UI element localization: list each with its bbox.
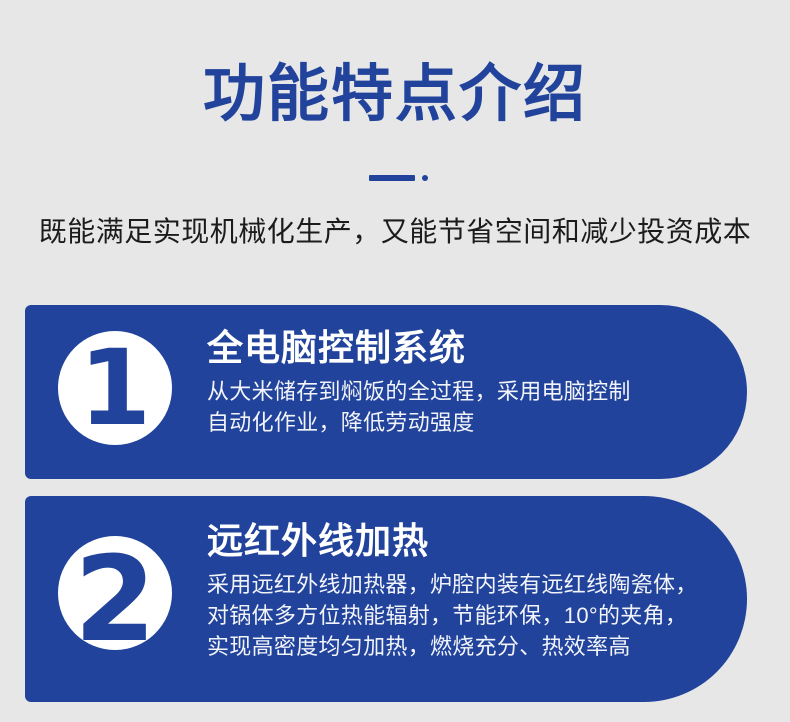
- page-title: 功能特点介绍: [0, 0, 790, 127]
- feature-number-badge-1: 1: [58, 331, 172, 445]
- feature-card-2: 2 远红外线加热 采用远红外线加热器，炉腔内装有远红线陶瓷体， 对锅体多方位热能…: [25, 496, 747, 702]
- divider-bar-icon: [369, 175, 415, 181]
- feature-description-line: 对锅体多方位热能辐射，节能环保，10°的夹角，: [207, 600, 707, 631]
- page-header: 功能特点介绍: [0, 0, 790, 127]
- divider-dot-icon: [422, 175, 428, 181]
- feature-body-2: 远红外线加热 采用远红外线加热器，炉腔内装有远红线陶瓷体， 对锅体多方位热能辐射…: [207, 518, 707, 663]
- feature-intro-page: 功能特点介绍 既能满足实现机械化生产，又能节省空间和减少投资成本 1 全电脑控制…: [0, 0, 790, 722]
- feature-description-1: 从大米储存到焖饭的全过程，采用电脑控制 自动化作业，降低劳动强度: [207, 376, 707, 438]
- feature-number-1: 1: [58, 331, 172, 445]
- title-divider: [0, 172, 790, 184]
- feature-description-line: 自动化作业，降低劳动强度: [207, 407, 707, 438]
- feature-title-2: 远红外线加热: [207, 518, 707, 563]
- feature-title-1: 全电脑控制系统: [207, 325, 707, 370]
- feature-number-badge-2: 2: [58, 536, 172, 650]
- feature-number-2: 2: [58, 542, 172, 656]
- feature-description-line: 从大米储存到焖饭的全过程，采用电脑控制: [207, 376, 707, 407]
- feature-body-1: 全电脑控制系统 从大米储存到焖饭的全过程，采用电脑控制 自动化作业，降低劳动强度: [207, 325, 707, 438]
- feature-description-line: 采用远红外线加热器，炉腔内装有远红线陶瓷体，: [207, 569, 707, 600]
- feature-description-line: 实现高密度均匀加热，燃烧充分、热效率高: [207, 631, 707, 662]
- feature-card-1: 1 全电脑控制系统 从大米储存到焖饭的全过程，采用电脑控制 自动化作业，降低劳动…: [25, 305, 747, 479]
- page-subtitle: 既能满足实现机械化生产，又能节省空间和减少投资成本: [0, 214, 790, 250]
- feature-description-2: 采用远红外线加热器，炉腔内装有远红线陶瓷体， 对锅体多方位热能辐射，节能环保，1…: [207, 569, 707, 663]
